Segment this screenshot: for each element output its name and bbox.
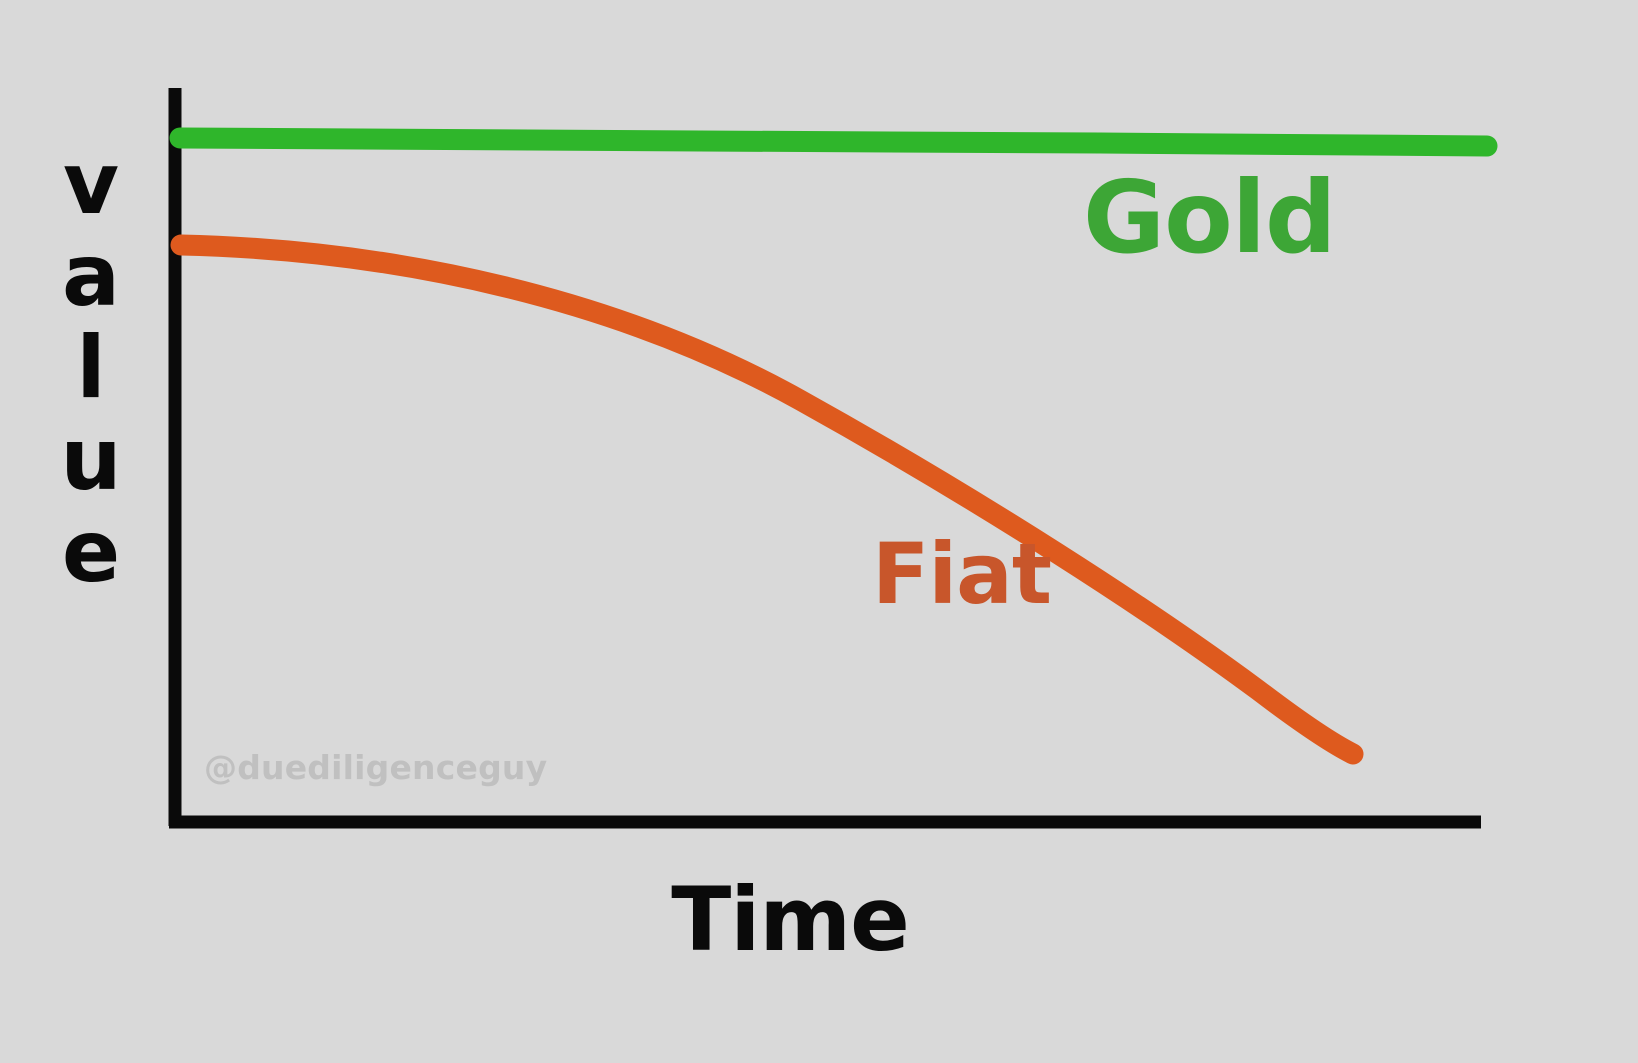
series-line-gold	[180, 138, 1487, 146]
chart-root: v a l u e Time Gold Fiat @duediligencegu…	[0, 0, 1638, 1063]
series-line-fiat	[181, 245, 1353, 754]
series-label-fiat: Fiat	[872, 532, 1051, 616]
x-axis-label: Time	[600, 876, 980, 964]
series-label-gold: Gold	[1083, 168, 1336, 268]
y-axis-label-letter: a	[62, 234, 120, 326]
y-axis-label-letter: v	[63, 142, 119, 234]
y-axis-label-letter: l	[76, 326, 105, 418]
y-axis-label-letter: u	[60, 418, 121, 510]
y-axis-label: v a l u e	[36, 142, 146, 602]
y-axis-label-letter: e	[62, 510, 120, 602]
watermark-handle: @duediligenceguy	[204, 748, 547, 787]
